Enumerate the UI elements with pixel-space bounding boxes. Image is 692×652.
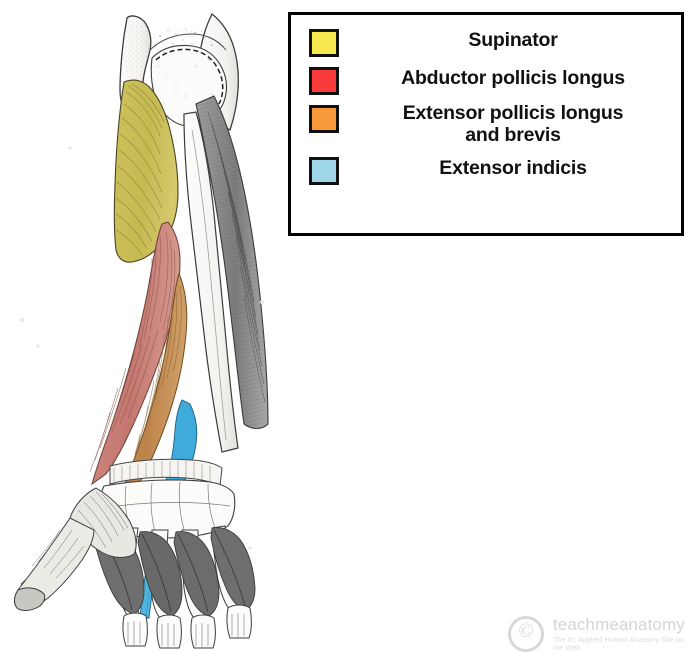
legend-item-extensor-pollicis[interactable]: Extensor pollicis longus and brevis xyxy=(309,103,671,147)
thumb-distal-phalanx xyxy=(14,588,44,611)
legend-label-extensor-pollicis: Extensor pollicis longus and brevis xyxy=(359,103,671,147)
legend-item-abductor-pollicis-longus[interactable]: Abductor pollicis longus xyxy=(309,65,671,95)
legend-item-supinator[interactable]: Supinator xyxy=(309,27,671,57)
legend-label-extensor-pollicis-line1: Extensor pollicis longus xyxy=(403,102,624,124)
legend-item-extensor-indicis[interactable]: Extensor indicis xyxy=(309,155,671,185)
legend-label-extensor-indicis: Extensor indicis xyxy=(359,155,671,180)
legend-swatch-abductor-pollicis-longus xyxy=(309,67,339,95)
watermark-site-name: teachmeanatomy xyxy=(553,616,692,634)
legend-label-extensor-pollicis-line2: and brevis xyxy=(359,125,667,147)
copyright-icon: © xyxy=(508,616,544,652)
anatomy-illustration xyxy=(0,0,290,650)
legend-label-supinator: Supinator xyxy=(359,27,671,52)
watermark-text: teachmeanatomy The #1 Applied Human Anat… xyxy=(553,616,692,651)
legend-swatch-extensor-indicis xyxy=(309,157,339,185)
watermark: © teachmeanatomy The #1 Applied Human An… xyxy=(508,616,692,652)
legend-box: Supinator Abductor pollicis longus Exten… xyxy=(288,12,684,236)
legend-swatch-supinator xyxy=(309,29,339,57)
legend-label-abductor-pollicis-longus: Abductor pollicis longus xyxy=(359,65,671,90)
watermark-tagline: The #1 Applied Human Anatomy Site on the… xyxy=(553,636,692,651)
legend-swatch-extensor-pollicis xyxy=(309,105,339,133)
anatomy-illustration-svg xyxy=(0,0,290,650)
